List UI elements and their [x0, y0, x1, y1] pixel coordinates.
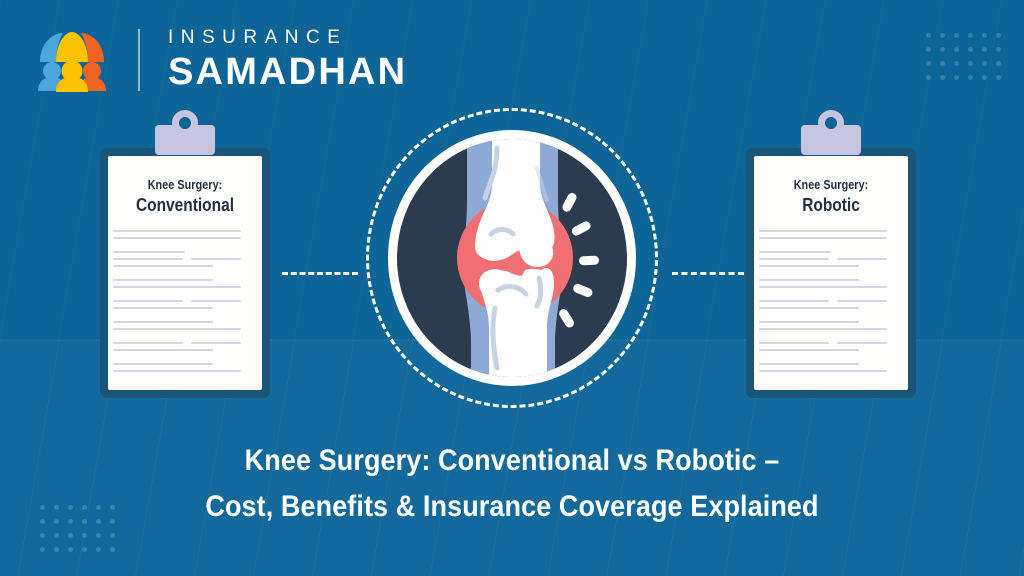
dot: [982, 75, 987, 80]
logo-wordmark: INSURANCE SAMADHAN: [168, 28, 407, 93]
dot: [68, 547, 73, 552]
dot: [954, 33, 959, 38]
clipboard-clip-ring-icon: [172, 110, 198, 136]
dot: [968, 47, 973, 52]
clipboard-title-small: Knee Surgery:: [112, 178, 258, 193]
dot: [940, 33, 945, 38]
logo-line-samadhan: SAMADHAN: [168, 53, 407, 93]
dashed-connector-right: [672, 272, 744, 275]
dot: [54, 547, 59, 552]
dot: [40, 547, 45, 552]
clipboard-title-small: Knee Surgery:: [758, 178, 904, 193]
dot: [940, 75, 945, 80]
dot: [926, 75, 931, 80]
dot: [110, 547, 115, 552]
dot: [996, 61, 1001, 66]
clipboard-text-lines: [113, 230, 243, 377]
dot: [82, 547, 87, 552]
page-title-line-1: Knee Surgery: Conventional vs Robotic –: [51, 438, 973, 484]
dot: [982, 33, 987, 38]
page-title: Knee Surgery: Conventional vs Robotic – …: [0, 438, 1024, 529]
clipboard-title-big: Conventional: [112, 194, 258, 217]
dot: [982, 61, 987, 66]
dot: [968, 61, 973, 66]
dot: [926, 61, 931, 66]
dot: [82, 533, 87, 538]
dot: [54, 533, 59, 538]
dot-grid-top-right: [926, 33, 1010, 89]
clipboard-clip-ring-icon: [818, 110, 844, 136]
logo-line-insurance: INSURANCE: [168, 28, 407, 47]
dot: [968, 75, 973, 80]
dot: [940, 61, 945, 66]
page-title-line-2: Cost, Benefits & Insurance Coverage Expl…: [51, 484, 973, 530]
knee-illustration: [366, 108, 658, 408]
clipboard-text-lines: [759, 230, 889, 377]
clipboard-conventional[interactable]: Knee Surgery: Conventional: [100, 148, 270, 398]
dot: [982, 47, 987, 52]
dashed-connector-left: [282, 272, 358, 275]
dot: [996, 33, 1001, 38]
dot: [68, 533, 73, 538]
infographic-canvas: INSURANCE SAMADHAN Knee Surgery: Convent…: [0, 0, 1024, 576]
clipboard-title-block: Knee Surgery: Conventional: [100, 178, 270, 217]
clipboard-title-block: Knee Surgery: Robotic: [746, 178, 916, 217]
dot: [954, 61, 959, 66]
dot: [926, 47, 931, 52]
dot: [926, 33, 931, 38]
dot: [968, 33, 973, 38]
dot: [940, 47, 945, 52]
dot: [954, 47, 959, 52]
logo-divider: [138, 29, 140, 91]
clipboard-robotic[interactable]: Knee Surgery: Robotic: [746, 148, 916, 398]
clipboard-title-big: Robotic: [758, 194, 904, 217]
brand-logo[interactable]: INSURANCE SAMADHAN: [36, 28, 407, 93]
dot: [996, 75, 1001, 80]
dot: [110, 533, 115, 538]
knee-joint-anatomy-icon: [388, 130, 636, 386]
dot: [96, 547, 101, 552]
dot: [954, 75, 959, 80]
dot: [40, 533, 45, 538]
umbrella-family-icon: [36, 28, 122, 92]
dot: [996, 47, 1001, 52]
dot: [96, 533, 101, 538]
